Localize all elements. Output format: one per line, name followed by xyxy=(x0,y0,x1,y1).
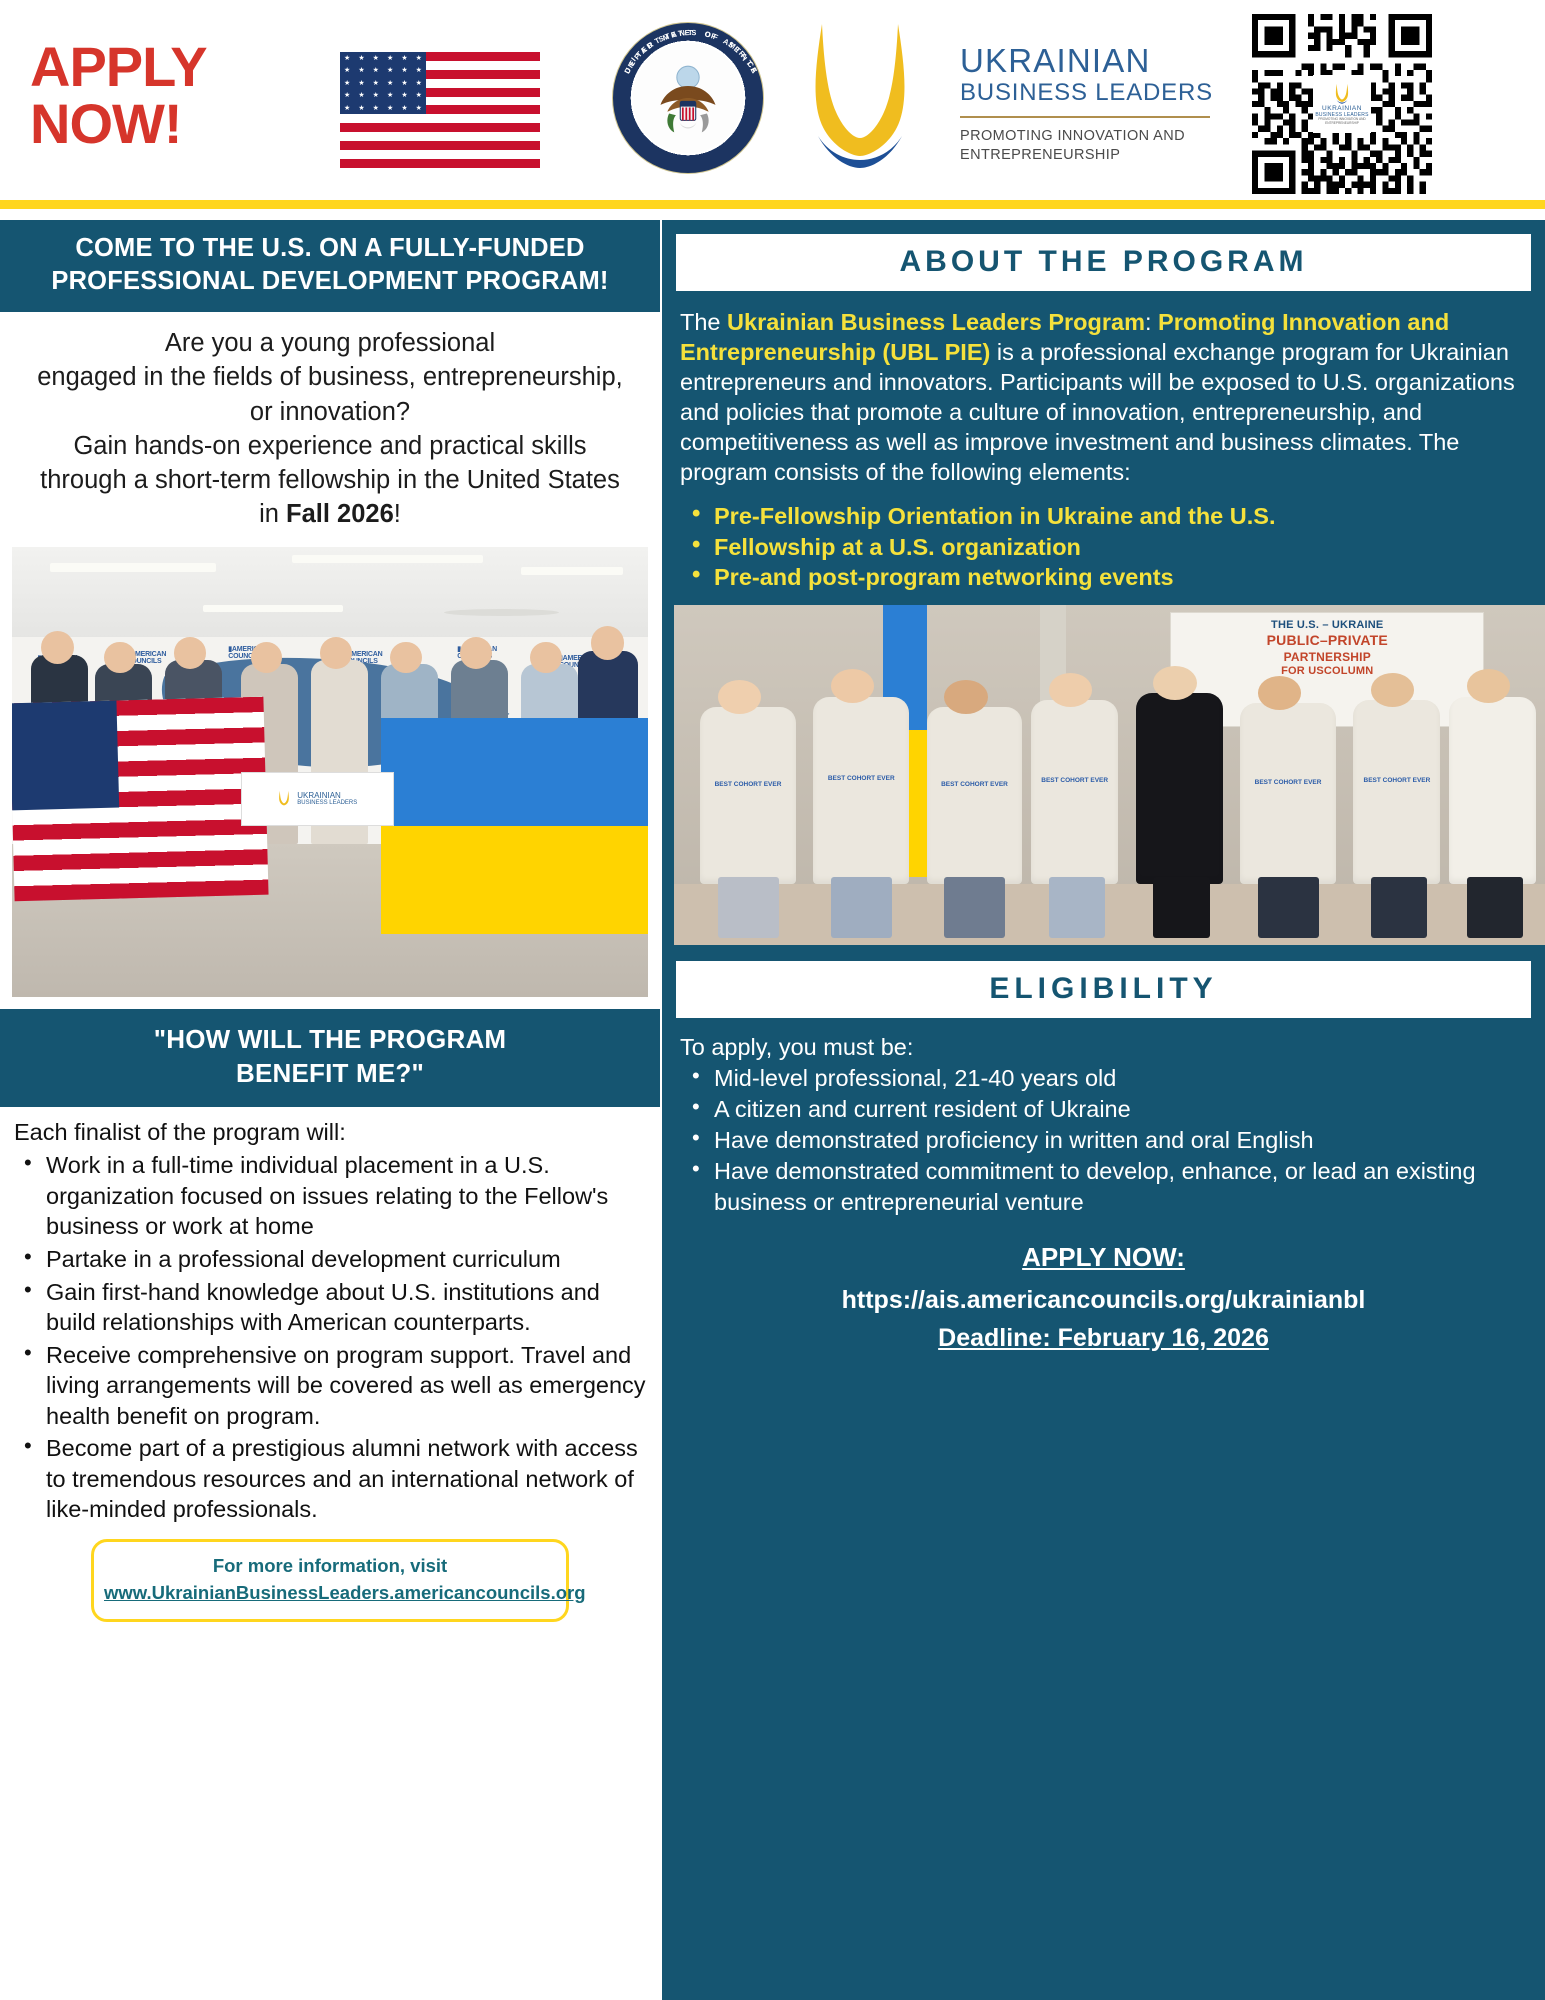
gold-divider-rule xyxy=(0,200,1545,209)
intro-line-3: or innovation? xyxy=(18,395,642,429)
ubl-line1: UKRAINIAN xyxy=(960,44,1228,79)
photo-flame-icon xyxy=(277,790,291,808)
cohort-photo: THE U.S. – UKRAINE PUBLIC–PRIVATE PARTNE… xyxy=(674,605,1545,945)
ubl-tagline-line1: PROMOTING INNOVATION AND xyxy=(960,127,1228,146)
qr-center-name: UKRAINIAN xyxy=(1322,105,1362,112)
forum-banner-line3: PARTNERSHIP xyxy=(1171,650,1483,665)
list-item: Pre-Fellowship Orientation in Ukraine an… xyxy=(680,501,1535,531)
qr-center-logo: UKRAINIAN BUSINESS LEADERS PROMOTING INN… xyxy=(1313,75,1371,133)
more-information-box: For more information, visit www.Ukrainia… xyxy=(91,1539,569,1622)
intro-line-1: Are you a young professional xyxy=(18,326,642,360)
list-item: A citizen and current resident of Ukrain… xyxy=(680,1094,1527,1125)
list-item: Become part of a prestigious alumni netw… xyxy=(14,1433,650,1525)
benefit-banner-line2: BENEFIT ME?" xyxy=(10,1057,650,1091)
ukraine-flag-in-photo xyxy=(381,718,648,934)
intro-line-6-pre: in xyxy=(259,500,286,528)
benefits-lead: Each finalist of the program will: xyxy=(14,1117,650,1148)
intro-paragraph: Are you a young professional engaged in … xyxy=(0,312,660,539)
apply-now-line1: APPLY xyxy=(30,38,310,95)
eligibility-section: To apply, you must be: Mid-level profess… xyxy=(662,1018,1545,1218)
website-link[interactable]: www.UkrainianBusinessLeaders.americancou… xyxy=(104,1580,556,1607)
qr-flame-icon xyxy=(1333,83,1351,105)
photo-banner-name: UKRAINIAN xyxy=(297,791,357,801)
seal-ring-text: DEPARTMENT OF STATEUNITED STATES OF AMER… xyxy=(613,23,763,173)
benefits-list: Work in a full-time individual placement… xyxy=(14,1150,650,1525)
hoodie-text: BEST COHORT EVER xyxy=(1364,777,1431,784)
us-flag-in-photo xyxy=(12,697,269,902)
forum-banner-line1: THE U.S. – UKRAINE xyxy=(1171,619,1483,633)
application-deadline: Deadline: February 16, 2026 xyxy=(672,1324,1535,1353)
header: APPLY NOW! ★★★★★★ ★★★★★★ ★★★★★★ ★★★★★★ ★… xyxy=(0,0,1545,250)
benefits-section: Each finalist of the program will: Work … xyxy=(0,1107,660,1525)
hoodie-text: BEST COHORT EVER xyxy=(828,775,895,782)
intro-line-6: in Fall 2026! xyxy=(18,497,642,531)
hoodie-text: BEST COHORT EVER xyxy=(1255,779,1322,786)
apply-now-label: APPLY NOW: xyxy=(672,1242,1535,1273)
ubl-flame-logo-icon xyxy=(796,18,924,178)
group-photo-flags: ▮AMERICANCOUNCILS ▮AMERICANCOUNCILS ▮AME… xyxy=(12,547,648,997)
flyer-page: APPLY NOW! ★★★★★★ ★★★★★★ ★★★★★★ ★★★★★★ ★… xyxy=(0,0,1545,2000)
list-item: Pre-and post-program networking events xyxy=(680,562,1535,592)
qr-code[interactable]: UKRAINIAN BUSINESS LEADERS PROMOTING INN… xyxy=(1252,14,1432,194)
intro-line-6-post: ! xyxy=(394,500,401,528)
ubl-line2: BUSINESS LEADERS xyxy=(960,79,1228,107)
intro-term-highlight: Fall 2026 xyxy=(286,500,394,528)
us-flag-canton: ★★★★★★ ★★★★★★ ★★★★★★ ★★★★★★ ★★★★★★ xyxy=(340,52,426,114)
info-box-label: For more information, visit xyxy=(213,1555,447,1576)
ubl-divider xyxy=(960,116,1210,118)
eligibility-heading: ELIGIBILITY xyxy=(676,961,1531,1018)
apply-now-headline: APPLY NOW! xyxy=(30,38,310,152)
eligibility-list: Mid-level professional, 21-40 years old … xyxy=(680,1063,1527,1218)
about-pre: The xyxy=(680,309,727,335)
photo1-ceiling xyxy=(12,547,648,646)
us-department-of-state-seal-icon: DEPARTMENT OF STATEUNITED STATES OF AMER… xyxy=(612,22,764,174)
benefit-banner-line1: "HOW WILL THE PROGRAM xyxy=(10,1023,650,1057)
list-item: Mid-level professional, 21-40 years old xyxy=(680,1063,1527,1094)
intro-line-4: Gain hands-on experience and practical s… xyxy=(18,429,642,463)
qr-center-tagline: PROMOTING INNOVATION AND ENTREPRENEURSHI… xyxy=(1313,118,1371,126)
photo-banner-sub: BUSINESS LEADERS xyxy=(297,800,357,807)
about-the-program-text: The Ukrainian Business Leaders Program: … xyxy=(662,291,1545,491)
about-the-program-heading: ABOUT THE PROGRAM xyxy=(676,234,1531,291)
headline-banner-line1: COME TO THE U.S. ON A FULLY-FUNDED xyxy=(10,232,650,265)
forum-banner-line4: FOR USCOLUMN xyxy=(1171,665,1483,679)
apply-now-section: APPLY NOW: https://ais.americancouncils.… xyxy=(662,1242,1545,1353)
right-column: ABOUT THE PROGRAM The Ukrainian Business… xyxy=(662,220,1545,2000)
headline-banner-line2: PROFESSIONAL DEVELOPMENT PROGRAM! xyxy=(10,265,650,298)
list-item: Gain first-hand knowledge about U.S. ins… xyxy=(14,1277,650,1338)
about-mid: : xyxy=(1145,309,1158,335)
headline-banner: COME TO THE U.S. ON A FULLY-FUNDED PROFE… xyxy=(0,220,660,312)
list-item: Have demonstrated commitment to develop,… xyxy=(680,1156,1527,1218)
benefit-banner: "HOW WILL THE PROGRAM BENEFIT ME?" xyxy=(0,1009,660,1107)
program-elements-list: Pre-Fellowship Orientation in Ukraine an… xyxy=(662,501,1545,591)
eligibility-lead: To apply, you must be: xyxy=(680,1032,1527,1063)
about-program-name: Ukrainian Business Leaders Program xyxy=(727,309,1145,335)
ubl-banner-in-photo: UKRAINIAN BUSINESS LEADERS xyxy=(241,772,394,826)
list-item: Partake in a professional development cu… xyxy=(14,1244,650,1275)
ubl-tagline-line2: ENTREPRENEURSHIP xyxy=(960,146,1228,165)
list-item: Receive comprehensive on program support… xyxy=(14,1340,650,1432)
left-column: COME TO THE U.S. ON A FULLY-FUNDED PROFE… xyxy=(0,220,660,1622)
list-item: Have demonstrated proficiency in written… xyxy=(680,1125,1527,1156)
hoodie-text: BEST COHORT EVER xyxy=(941,781,1008,788)
us-flag-icon: ★★★★★★ ★★★★★★ ★★★★★★ ★★★★★★ ★★★★★★ xyxy=(340,52,540,168)
application-url[interactable]: https://ais.americancouncils.org/ukraini… xyxy=(672,1286,1535,1315)
apply-now-line2: NOW! xyxy=(30,95,310,152)
list-item: Work in a full-time individual placement… xyxy=(14,1150,650,1242)
list-item: Fellowship at a U.S. organization xyxy=(680,532,1535,562)
hoodie-text: BEST COHORT EVER xyxy=(1041,777,1108,784)
intro-line-2: engaged in the fields of business, entre… xyxy=(18,360,642,394)
ubl-wordmark: UKRAINIAN BUSINESS LEADERS PROMOTING INN… xyxy=(960,44,1228,165)
forum-banner-line2: PUBLIC–PRIVATE xyxy=(1171,632,1483,650)
intro-line-5: through a short-term fellowship in the U… xyxy=(18,463,642,497)
hoodie-text: BEST COHORT EVER xyxy=(715,781,782,788)
